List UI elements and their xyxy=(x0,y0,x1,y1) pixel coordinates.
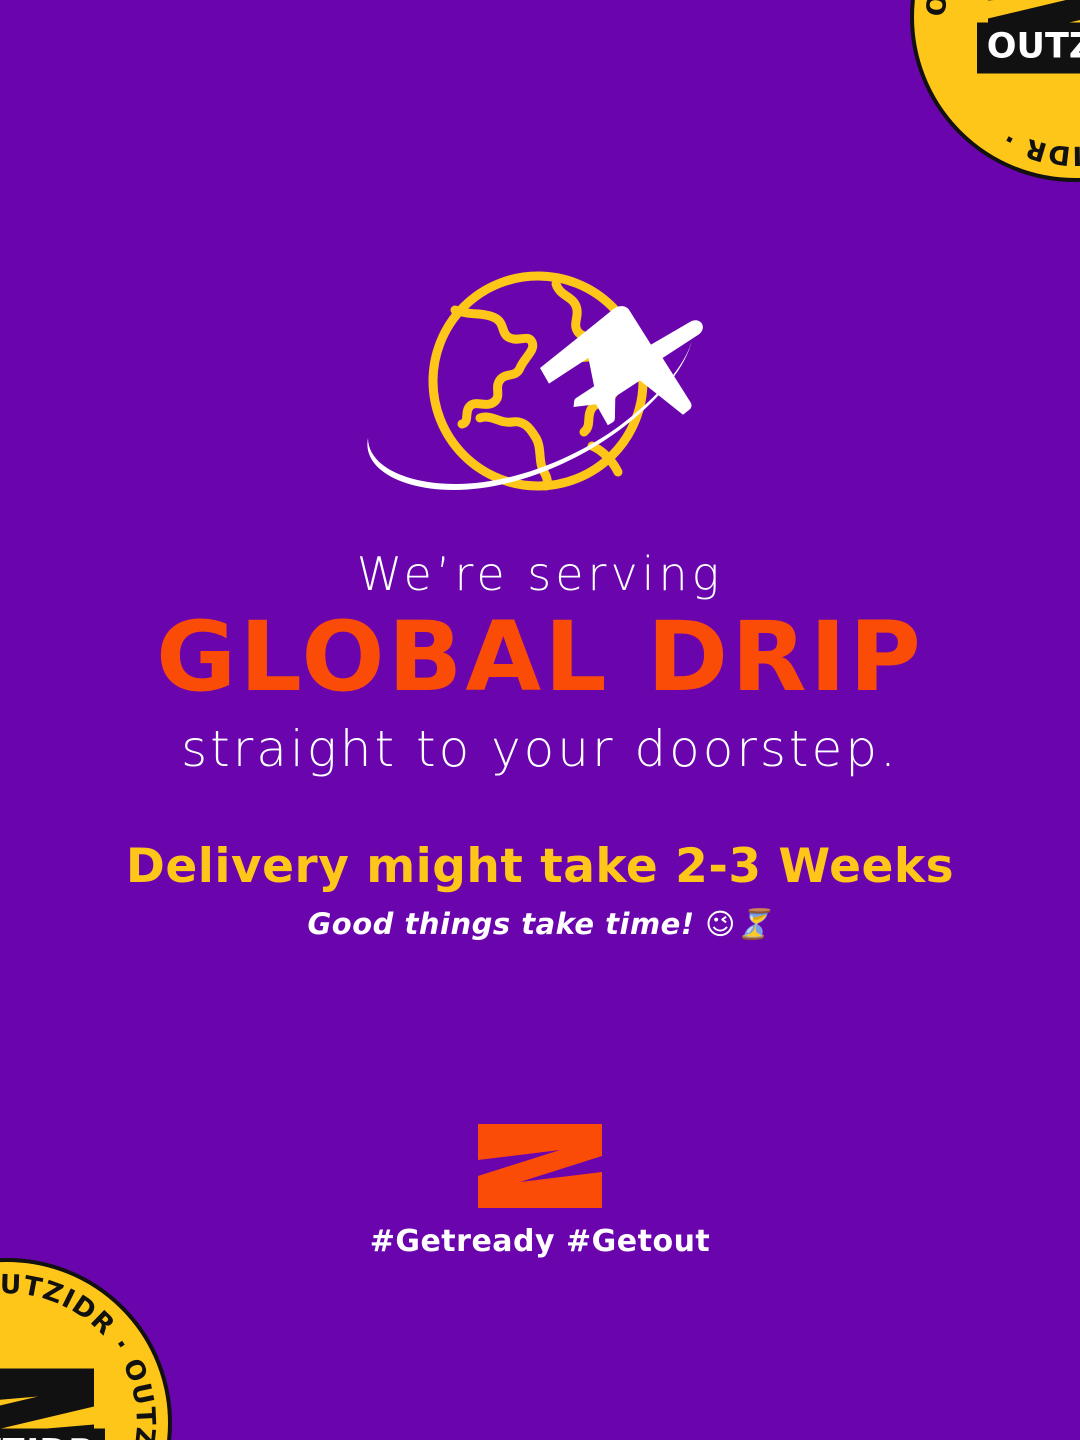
badge-core-bottom-left: OUTZIDR xyxy=(0,1367,105,1440)
badge-core-top-right: OUTZIDR xyxy=(977,0,1080,74)
hero-illustration xyxy=(0,268,1080,508)
page-title: GLOBAL DRIP xyxy=(0,609,1080,705)
delivery-notice: Delivery might take 2-3 Weeks xyxy=(0,840,1080,894)
airplane-icon xyxy=(540,306,703,425)
z-logo-icon xyxy=(476,1122,604,1210)
copy-block: We’re serving GLOBAL DRIP straight to yo… xyxy=(0,548,1080,942)
promo-poster: OUTZIDR · OUTZIDR · OUTZIDR · OUTZIDR · … xyxy=(0,0,1080,1440)
subtitle-text: straight to your doorstep. xyxy=(0,721,1080,779)
hashtags-text: #Getready #Getout xyxy=(370,1224,711,1259)
footer-block: #Getready #Getout xyxy=(0,1122,1080,1259)
brand-badge-top-right: OUTZIDR · OUTZIDR · OUTZIDR · OUTZIDR · … xyxy=(910,0,1080,182)
globe-with-airplane-icon xyxy=(360,268,720,508)
badge-wordmark: OUTZIDR xyxy=(977,23,1080,74)
brand-badge-bottom-left: OUTZIDR · OUTZIDR · OUTZIDR · OUTZIDR · … xyxy=(0,1258,172,1440)
badge-wordmark: OUTZIDR xyxy=(0,1429,105,1440)
eyebrow-text: We’re serving xyxy=(0,548,1080,601)
reassurance-text: Good things take time! 😉⏳ xyxy=(0,908,1080,941)
